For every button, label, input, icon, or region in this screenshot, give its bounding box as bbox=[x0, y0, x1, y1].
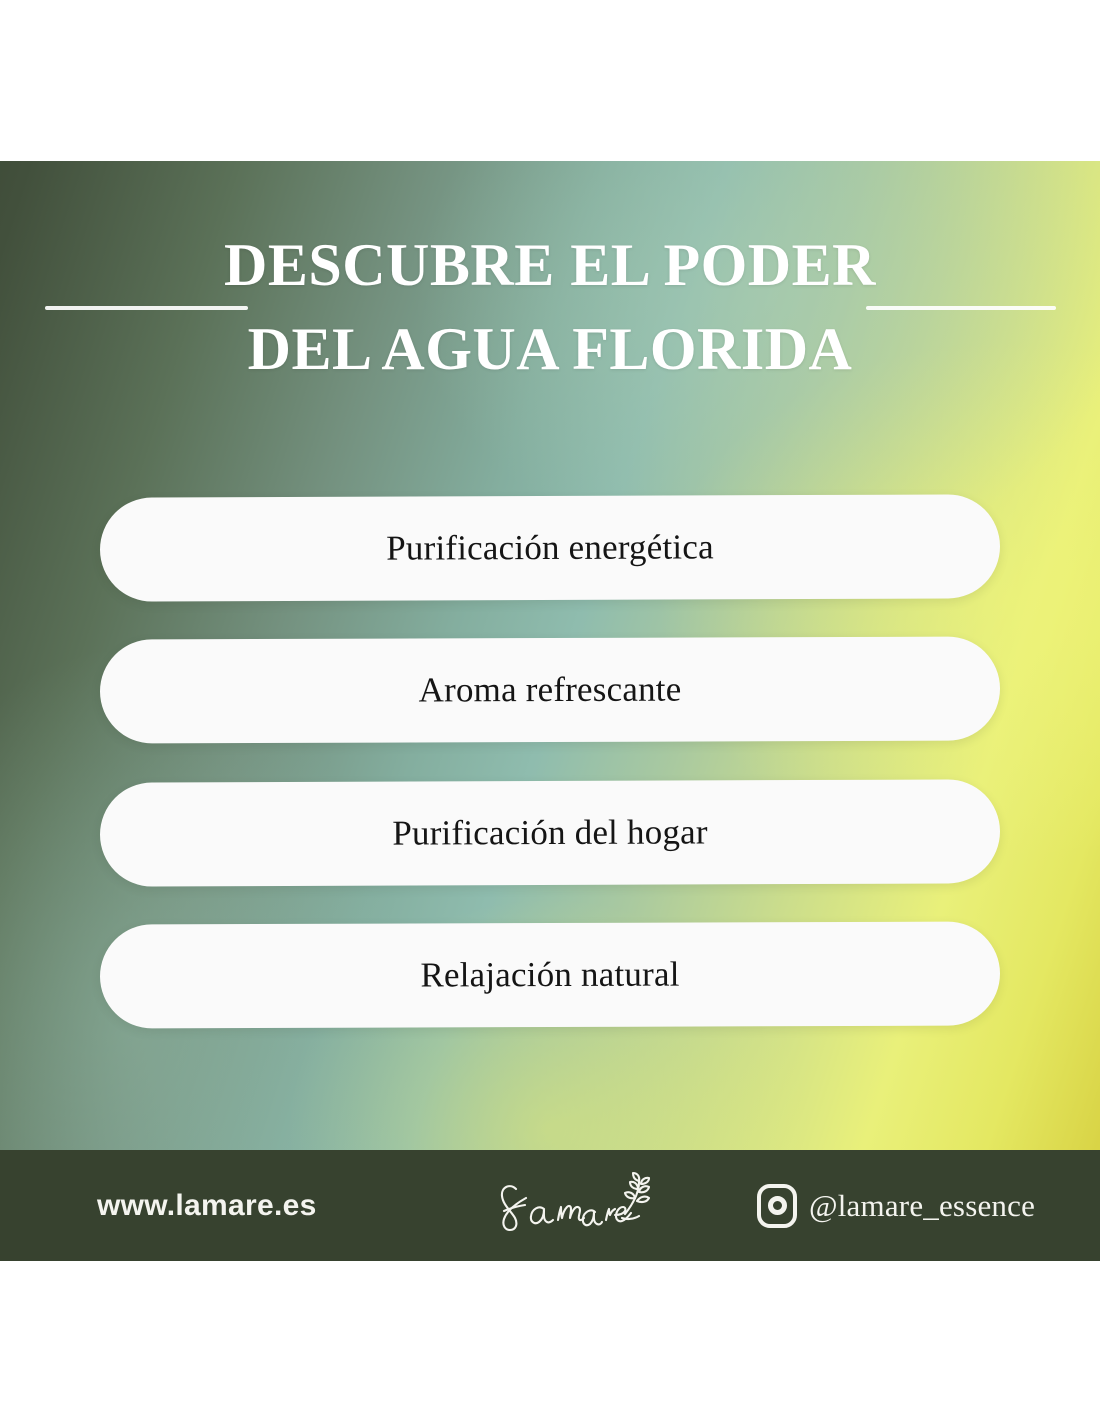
benefit-pill-label: Relajación natural bbox=[420, 955, 679, 996]
footer-bar: www.lamare.es bbox=[0, 1150, 1100, 1261]
instagram-link[interactable]: @lamare_essence bbox=[757, 1184, 1035, 1228]
instagram-handle: @lamare_essence bbox=[809, 1188, 1035, 1224]
benefit-list: Purificación energética Aroma refrescant… bbox=[0, 491, 1100, 1071]
benefit-pill-3[interactable]: Purificación del hogar bbox=[100, 779, 1000, 886]
benefit-pill-1[interactable]: Purificación energética bbox=[100, 494, 1000, 601]
instagram-icon bbox=[757, 1184, 797, 1228]
headline-line-2: DEL AGUA FLORIDA bbox=[0, 307, 1100, 391]
headline-rule-right bbox=[866, 306, 1056, 310]
headline-rule-left bbox=[45, 306, 248, 310]
benefit-pill-4[interactable]: Relajación natural bbox=[100, 921, 1000, 1028]
headline-line-1: DESCUBRE EL PODER bbox=[0, 223, 1100, 307]
page-canvas: DESCUBRE EL PODER DEL AGUA FLORIDA Purif… bbox=[0, 0, 1100, 1422]
social-post-card: DESCUBRE EL PODER DEL AGUA FLORIDA Purif… bbox=[0, 161, 1100, 1261]
website-url[interactable]: www.lamare.es bbox=[97, 1189, 317, 1223]
benefit-pill-label: Aroma refrescante bbox=[419, 670, 682, 711]
benefit-pill-2[interactable]: Aroma refrescante bbox=[100, 636, 1000, 743]
benefit-pill-label: Purificación energética bbox=[386, 527, 714, 568]
benefit-pill-label: Purificación del hogar bbox=[392, 812, 708, 853]
instagram-icon-lens bbox=[768, 1196, 787, 1215]
brand-logo bbox=[482, 1170, 652, 1242]
